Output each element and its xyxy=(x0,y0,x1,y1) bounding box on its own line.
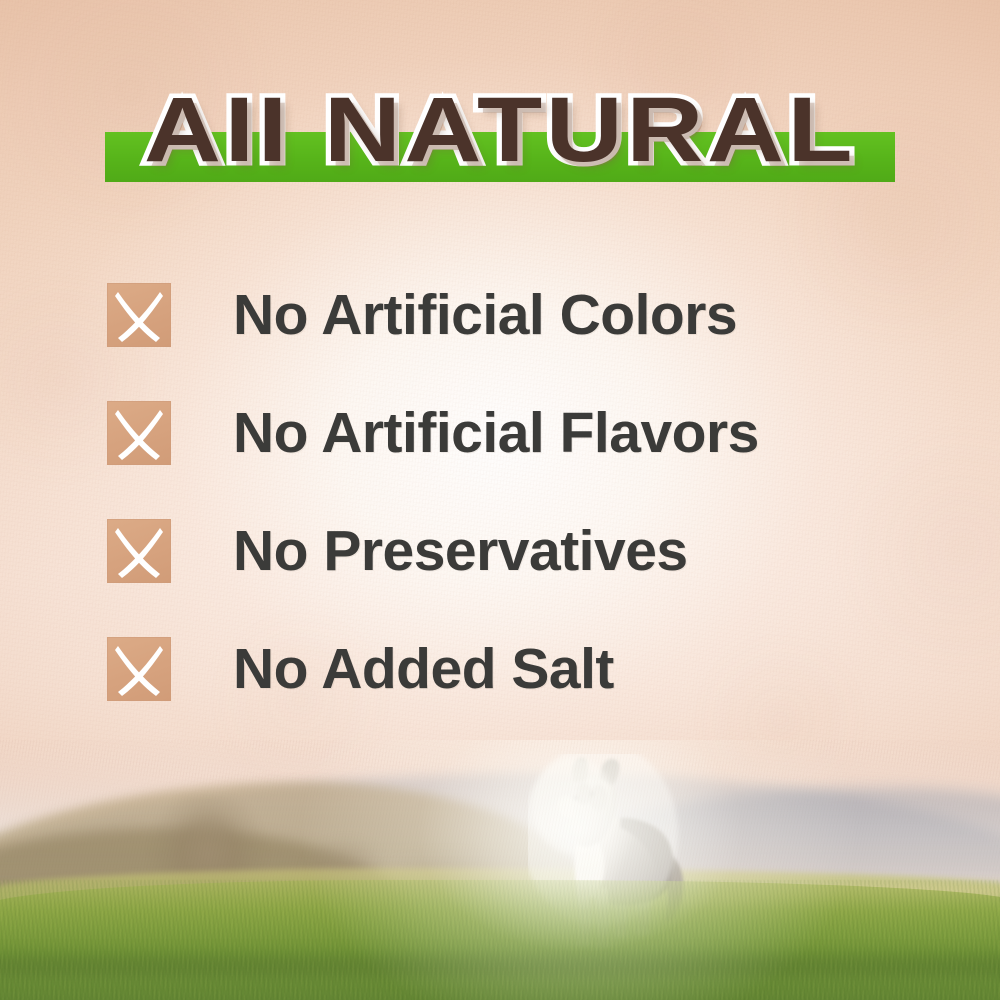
x-mark-icon xyxy=(107,519,171,583)
headline-banner: AII NATURAL xyxy=(0,78,1000,190)
grass-texture-overlay xyxy=(0,880,1000,1000)
x-mark-icon xyxy=(107,283,171,347)
x-mark-icon xyxy=(107,401,171,465)
x-mark-icon xyxy=(107,637,171,701)
feature-row: No Added Salt xyxy=(107,610,937,728)
feature-label: No Added Salt xyxy=(233,639,614,699)
feature-label: No Preservatives xyxy=(233,521,688,581)
landscape-photo xyxy=(0,740,1000,1000)
feature-row: No Artificial Flavors xyxy=(107,374,937,492)
feature-row: No Preservatives xyxy=(107,492,937,610)
feature-list: No Artificial Colors No Artificial Flavo… xyxy=(107,256,937,728)
feature-row: No Artificial Colors xyxy=(107,256,937,374)
feature-label: No Artificial Flavors xyxy=(233,403,759,463)
product-feature-panel: AII NATURAL No Artificial Colors No Arti… xyxy=(0,0,1000,1000)
feature-label: No Artificial Colors xyxy=(233,285,737,345)
headline-title: AII NATURAL xyxy=(0,78,1000,182)
